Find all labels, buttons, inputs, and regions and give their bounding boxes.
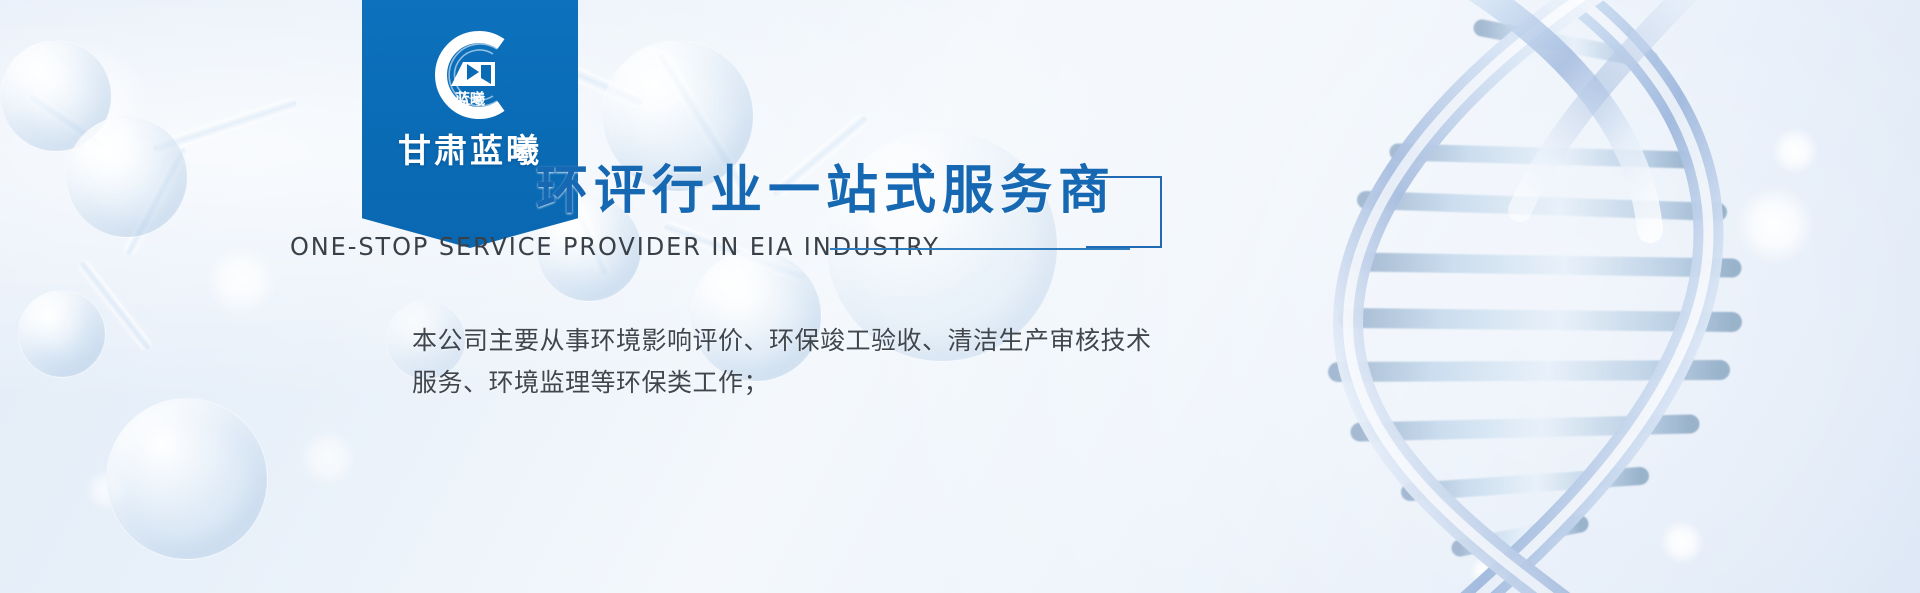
molecule-atom (106, 398, 268, 560)
bokeh-light (1660, 520, 1704, 564)
bokeh-light (1470, 556, 1500, 586)
molecule-atom (0, 40, 112, 152)
dna-helix-icon (1220, 0, 1920, 593)
description-text: 本公司主要从事环境影响评价、环保竣工验收、清洁生产审核技术 服务、环境监理等环保… (412, 320, 1152, 404)
molecule-atom (18, 290, 106, 378)
molecule-bond (123, 146, 189, 257)
logo-inner-text: 蓝曦 (455, 90, 485, 108)
bokeh-light (206, 246, 276, 316)
page-subtitle: ONE-STOP SERVICE PROVIDER IN EIA INDUSTR… (290, 232, 940, 261)
bokeh-light (1772, 128, 1818, 174)
hero-banner: 蓝曦 甘肃蓝曦 环评行业一站式服务商 ONE-STOP SERVICE PROV… (0, 0, 1920, 593)
description-line: 本公司主要从事环境影响评价、环保竣工验收、清洁生产审核技术 (412, 320, 1152, 362)
horizontal-rule-icon (830, 248, 1130, 250)
bokeh-light (1736, 186, 1814, 264)
molecule-bond (27, 92, 113, 155)
page-title: 环评行业一站式服务商 (536, 148, 1116, 223)
bokeh-light (28, 40, 148, 160)
molecule-bond (152, 97, 298, 155)
bokeh-light (300, 430, 356, 486)
bracket-right-line (1160, 176, 1162, 248)
molecule-bond (77, 259, 153, 352)
description-line: 服务、环境监理等环保类工作； (412, 362, 1152, 404)
lanxi-circle-logo-icon: 蓝曦 (411, 16, 529, 134)
molecule-atom (66, 116, 188, 238)
bokeh-light (86, 470, 126, 510)
